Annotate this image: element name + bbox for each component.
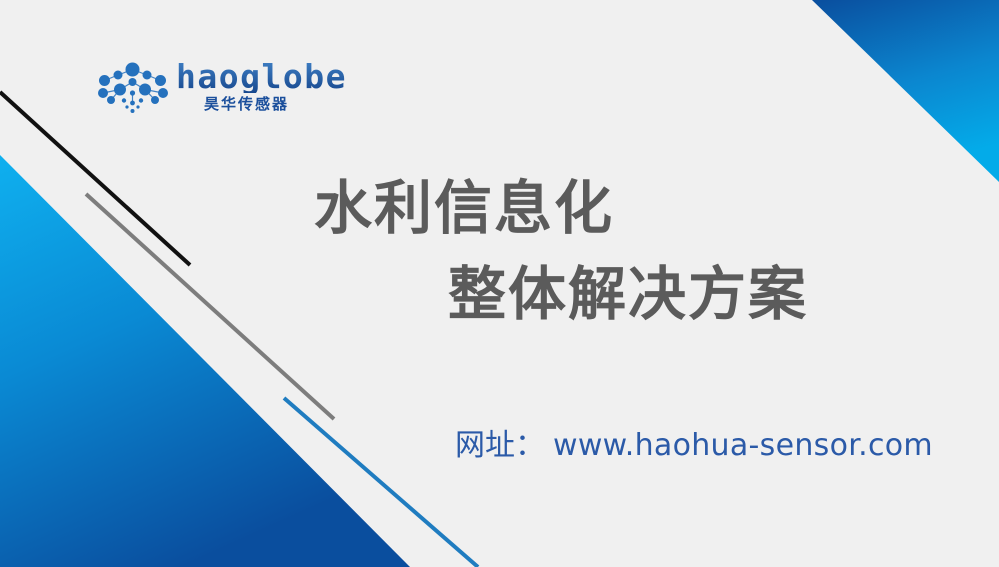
- gray-diagonal-line: [86, 194, 334, 419]
- top-right-gradient-triangle: [812, 0, 999, 182]
- slide-title: 水利信息化 整体解决方案: [300, 165, 900, 337]
- website-label: 网址：: [455, 420, 545, 464]
- blue-diagonal-line: [284, 398, 478, 567]
- website-url[interactable]: www.haohua-sensor.com: [553, 428, 933, 463]
- presentation-slide: haoglobe 昊华传感器 水利信息化 整体解决方案 网址： www.haoh…: [0, 0, 999, 567]
- haoglobe-network-dots-icon: [94, 62, 172, 114]
- company-logo: haoglobe 昊华传感器: [94, 57, 324, 119]
- title-line-2: 整体解决方案: [448, 251, 900, 337]
- title-line-1: 水利信息化: [314, 165, 900, 251]
- website-line: 网址： www.haohua-sensor.com: [455, 420, 933, 464]
- logo-wordmark: haoglobe: [176, 60, 347, 93]
- logo-chinese-name: 昊华传感器: [204, 97, 289, 112]
